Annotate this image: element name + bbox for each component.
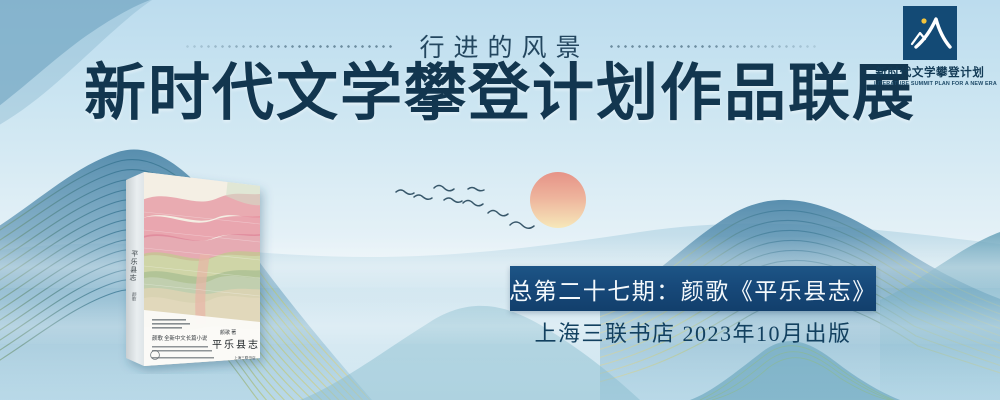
- book-cover-title: 平乐县志: [212, 338, 260, 351]
- sun-icon: [530, 172, 586, 228]
- publication-info: 上海三联书店 2023年10月出版: [510, 316, 876, 348]
- logo-sun-icon: [921, 18, 926, 23]
- book-publisher-mark: 上海三联书店: [234, 355, 256, 360]
- flying-birds-group: [396, 186, 534, 229]
- book-cover-image[interactable]: 颜歌 全新中文长篇小说 颜歌 著 平乐县志 上海三联书店 平乐县志 颜歌: [108, 158, 278, 374]
- issue-banner: 总第二十七期：颜歌《平乐县志》: [510, 266, 876, 311]
- logo-chinese-name: 新时代文学攀登计划: [874, 64, 986, 80]
- promo-banner: 行进的风景 新时代文学攀登计划作品联展 新时代文学攀登计划 LITERATURE…: [0, 0, 1000, 400]
- book-spine-author: 颜歌: [131, 291, 137, 303]
- banner-title: 新时代文学攀登计划作品联展: [0, 62, 1000, 127]
- book-band-tagline: 颜歌 全新中文长篇小说: [152, 334, 208, 342]
- brand-logo[interactable]: 新时代文学攀登计划 LITERATURE SUMMIT PLAN FOR A N…: [874, 6, 986, 87]
- book-band-author: 颜歌 著: [220, 329, 236, 336]
- mountain-peak-logo-icon: [903, 6, 957, 60]
- issue-text: 总第二十七期：颜歌《平乐县志》: [509, 272, 877, 306]
- logo-english-name: LITERATURE SUMMIT PLAN FOR A NEW ERA: [874, 81, 986, 87]
